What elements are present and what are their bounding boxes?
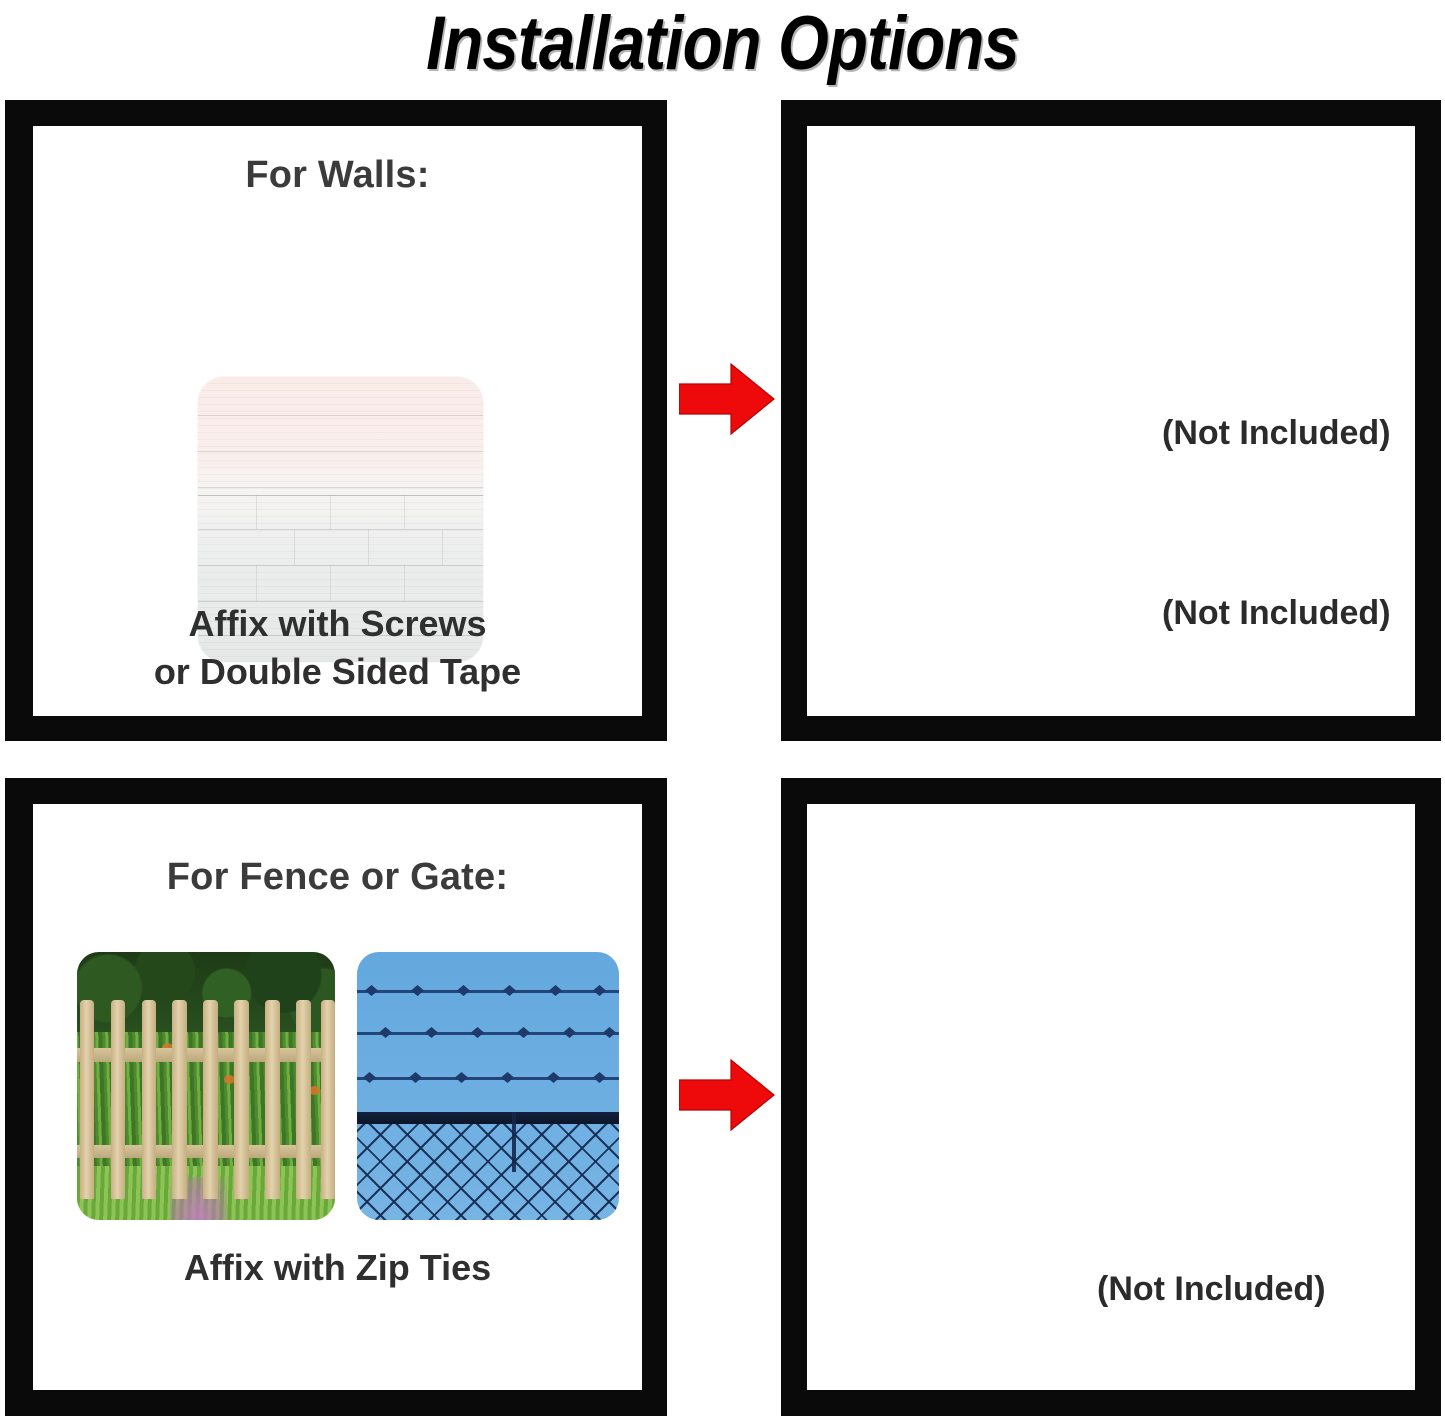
red-right-arrow-icon	[679, 362, 775, 436]
wall-mortar-line	[198, 529, 483, 530]
wall-brick-joint	[404, 565, 405, 601]
barbed-wire-strand	[357, 1032, 619, 1035]
barbed-wire-strand	[357, 1077, 619, 1080]
for-fence-caption: Affix with Zip Ties	[33, 1244, 642, 1292]
fence-picket	[142, 1000, 156, 1198]
zip-ties-not-included-label: (Not Included)	[1097, 1270, 1326, 1309]
for-fence-or-gate-heading: For Fence or Gate:	[33, 856, 642, 899]
fence-picket	[172, 1000, 186, 1198]
wall-mortar-line	[198, 415, 483, 416]
panel-for-walls: For Walls: Affix with Screws or Double S…	[5, 100, 667, 741]
chain-link-mesh	[357, 1124, 619, 1220]
wall-mortar-line	[198, 495, 483, 496]
wall-mortar-line	[198, 487, 483, 488]
wall-brick-joint	[256, 495, 257, 529]
for-walls-caption-line1: Affix with Screws	[33, 600, 642, 648]
wall-brick-joint	[330, 495, 331, 529]
panel-wall-hardware-content: (Not Included)	[807, 126, 1415, 716]
wall-brick-joint	[330, 565, 331, 601]
panel-for-fence-or-gate-content: For Fence or Gate:	[33, 804, 642, 1390]
fence-picket	[265, 1000, 279, 1198]
wall-brick-joint	[294, 529, 295, 565]
wall-mortar-line	[198, 565, 483, 566]
wall-mortar-line	[198, 451, 483, 452]
tape-not-included-label: (Not Included)	[1162, 414, 1391, 453]
fence-top-rail	[357, 1112, 619, 1124]
screws-not-included-label: (Not Included)	[1162, 594, 1391, 633]
panel-for-fence-or-gate: For Fence or Gate:	[5, 778, 667, 1416]
panel-zip-ties: (Not Included)	[781, 778, 1441, 1416]
for-walls-heading: For Walls:	[33, 154, 642, 197]
fence-picket	[203, 1000, 217, 1198]
fence-picket	[296, 1000, 310, 1198]
fence-picket	[321, 1000, 335, 1198]
wooden-picket-fence-photo	[77, 952, 335, 1220]
fence-picket	[234, 1000, 248, 1198]
chain-link-barbed-wire-fence-photo	[357, 952, 619, 1220]
fence-picket	[80, 1000, 94, 1198]
fence-post-wire	[512, 1112, 516, 1172]
panel-for-walls-content: For Walls: Affix with Screws or Double S…	[33, 126, 642, 716]
panel-wall-hardware: (Not Included)	[781, 100, 1441, 741]
page-title: Installation Options	[101, 0, 1344, 94]
wall-brick-joint	[256, 565, 257, 601]
wall-brick-joint	[404, 495, 405, 529]
panel-zip-ties-content: (Not Included)	[807, 804, 1415, 1390]
wall-brick-joint	[368, 529, 369, 565]
red-right-arrow-icon	[679, 1058, 775, 1132]
barbed-wire-strand	[357, 990, 619, 993]
fence-picket	[111, 1000, 125, 1198]
for-walls-caption-line2: or Double Sided Tape	[33, 648, 642, 696]
wall-brick-joint	[442, 529, 443, 565]
